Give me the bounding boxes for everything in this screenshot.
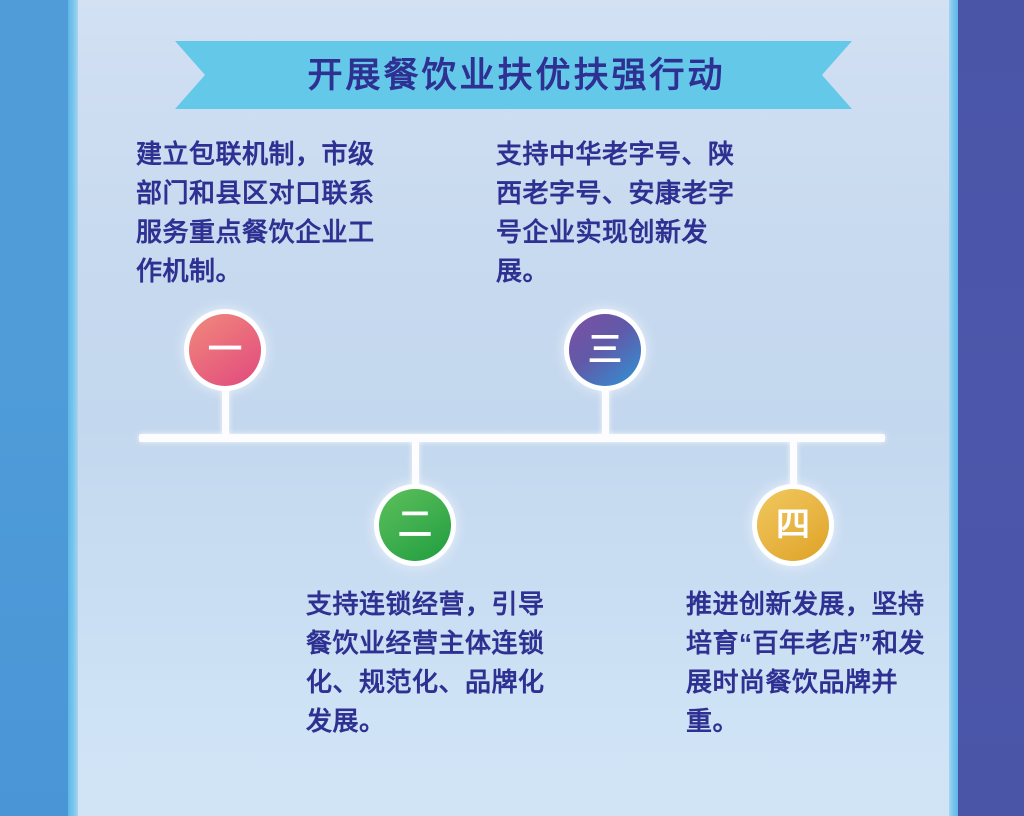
right-accent-stripe [949, 0, 958, 816]
left-accent-stripe [68, 0, 78, 816]
item-3-number-badge[interactable]: 三 [569, 314, 641, 386]
item-2-number-badge[interactable]: 二 [379, 489, 451, 561]
item-4-description: 推进创新发展，坚持培育“百年老店”和发展时尚餐饮品牌并重。 [686, 585, 936, 741]
item-1-number-badge[interactable]: 一 [189, 314, 261, 386]
item-1-connector [222, 382, 229, 438]
item-4-connector [790, 438, 797, 492]
right-color-band [958, 0, 1024, 816]
item-3-connector [602, 382, 609, 438]
page-title: 开展餐饮业扶优扶强行动 [301, 58, 725, 93]
timeline-axis [139, 434, 885, 442]
infographic-canvas: 开展餐饮业扶优扶强行动 建立包联机制，市级部门和县区对口联系服务重点餐饮企业工作… [0, 0, 1024, 816]
item-1-description: 建立包联机制，市级部门和县区对口联系服务重点餐饮企业工作机制。 [136, 135, 386, 291]
left-color-band [0, 0, 68, 816]
item-2-connector [412, 438, 419, 492]
item-2-description: 支持连锁经营，引导餐饮业经营主体连锁化、规范化、品牌化发展。 [306, 585, 556, 741]
title-ribbon: 开展餐饮业扶优扶强行动 [175, 41, 852, 109]
item-4-number-badge[interactable]: 四 [757, 489, 829, 561]
item-3-description: 支持中华老字号、陕西老字号、安康老字号企业实现创新发展。 [496, 135, 746, 291]
